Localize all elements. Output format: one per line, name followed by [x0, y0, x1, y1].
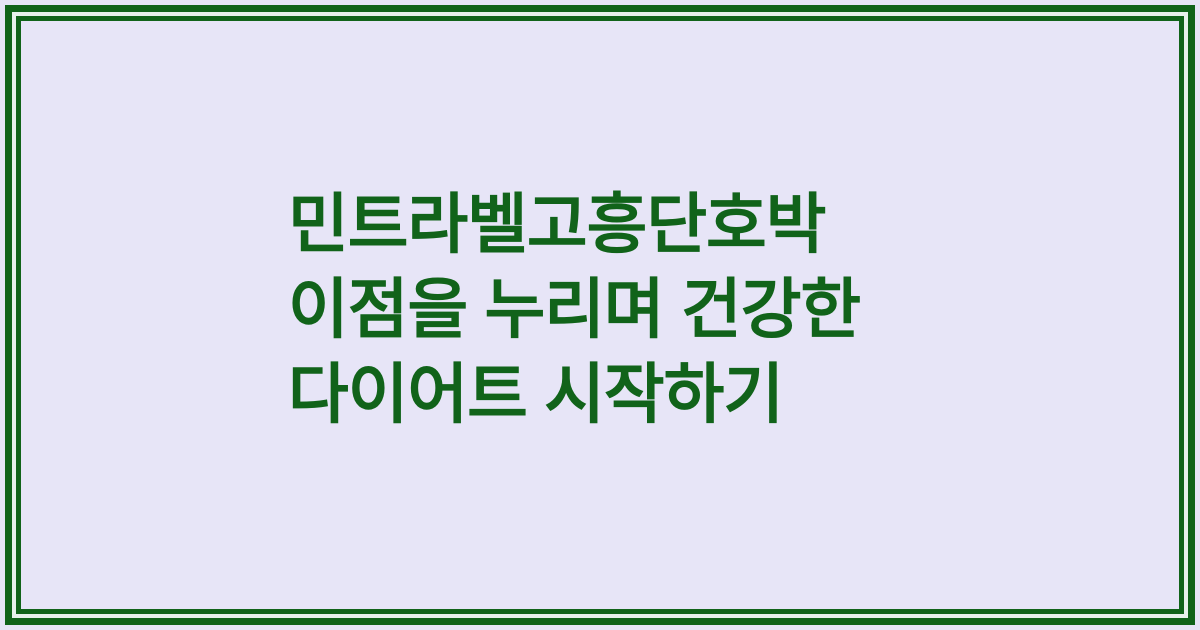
headline-line-2: 이점을 누리며 건강한: [288, 267, 860, 352]
inner-border-frame: 민트라벨고흥단호박 이점을 누리며 건강한 다이어트 시작하기: [16, 16, 1184, 614]
title-card: 민트라벨고흥단호박 이점을 누리며 건강한 다이어트 시작하기: [0, 0, 1200, 630]
headline-line-3: 다이어트 시작하기: [288, 352, 860, 437]
outer-border-frame: 민트라벨고흥단호박 이점을 누리며 건강한 다이어트 시작하기: [5, 5, 1195, 625]
headline-line-1: 민트라벨고흥단호박: [288, 182, 860, 267]
headline-block: 민트라벨고흥단호박 이점을 누리며 건강한 다이어트 시작하기: [21, 182, 860, 449]
